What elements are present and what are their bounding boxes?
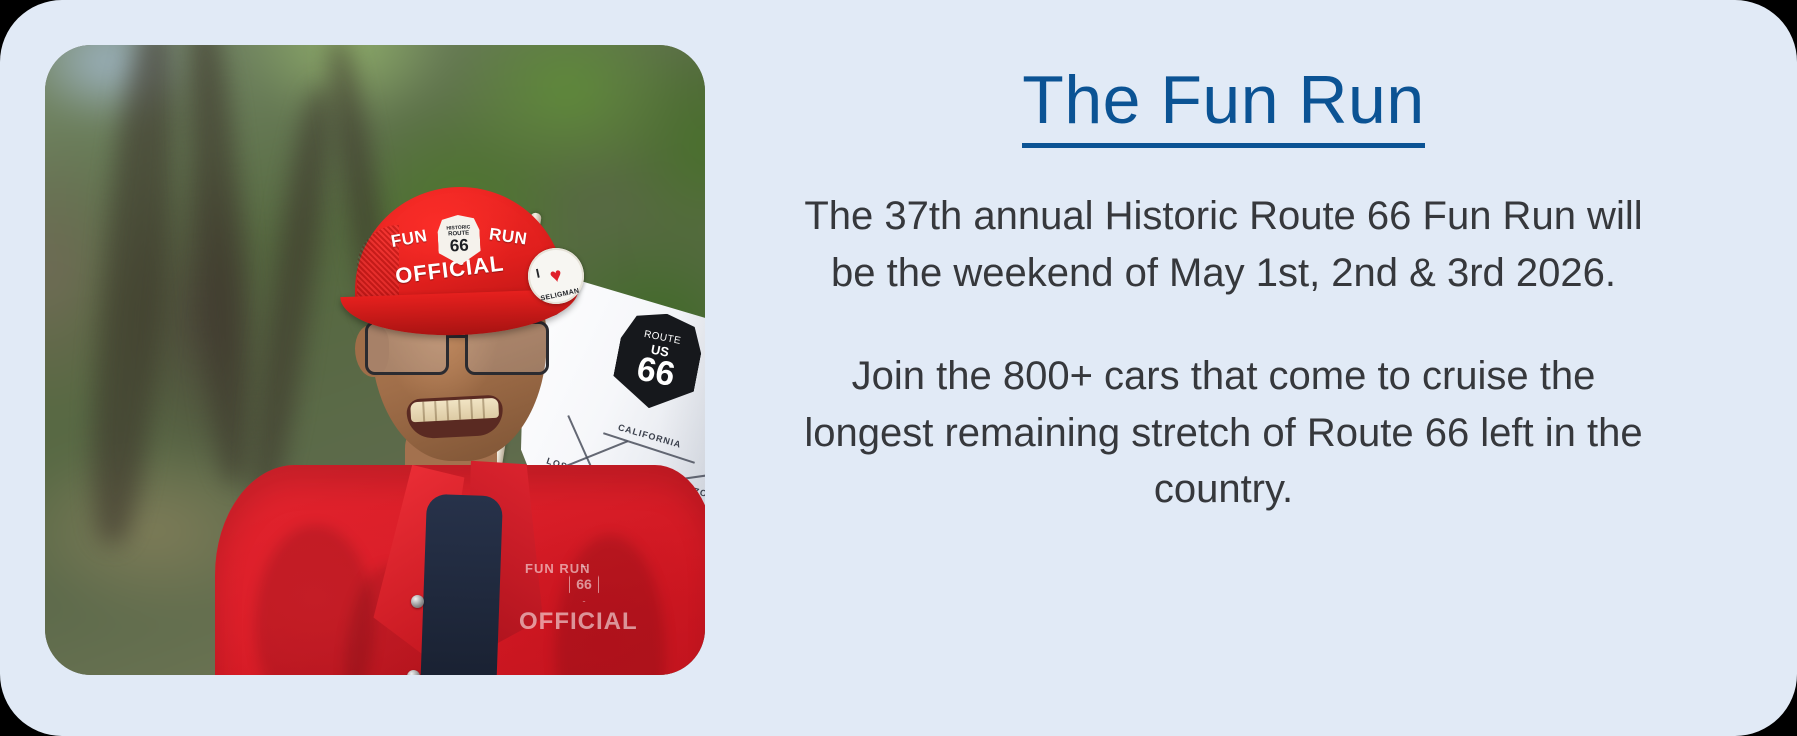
person-figure: FUN RUN 66 OFFICIAL FUN: [195, 165, 705, 675]
heart-icon: ♥: [548, 265, 564, 287]
cap-shield-number-label: 66: [449, 237, 469, 255]
text-column: The Fun Run The 37th annual Historic Rou…: [705, 45, 1752, 675]
paragraph-cruise-invite: Join the 800+ cars that come to cruise t…: [784, 348, 1664, 518]
teeth: [410, 398, 499, 423]
fun-run-card: ROUTE US 66 CALIFORNIA LOS ANGELES ARIZO…: [0, 0, 1797, 736]
inner-shirt: [419, 494, 503, 675]
jacket-patch-bottom-label: OFFICIAL: [519, 608, 638, 636]
jacket-patch: FUN RUN 66 OFFICIAL: [525, 560, 591, 578]
jacket-snap: [411, 595, 424, 608]
fun-run-title-link[interactable]: The Fun Run: [1022, 61, 1424, 148]
fun-run-photo: ROUTE US 66 CALIFORNIA LOS ANGELES ARIZO…: [45, 45, 705, 675]
button-i-label: I: [535, 266, 542, 281]
paragraph-event-dates: The 37th annual Historic Route 66 Fun Ru…: [784, 188, 1664, 302]
button-city-label: SELIGMAN: [532, 286, 588, 304]
